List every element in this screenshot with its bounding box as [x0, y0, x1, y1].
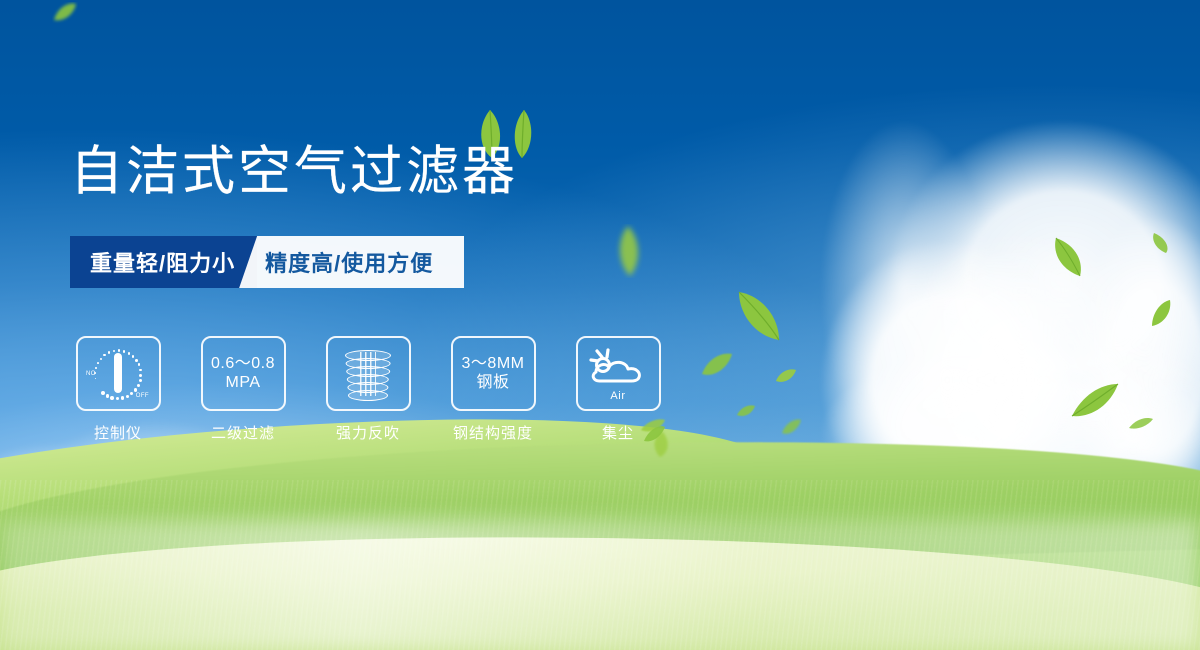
feature-label: 控制仪: [94, 422, 142, 443]
gauge-tick-dot: [103, 354, 105, 356]
pressure-value: 0.6～0.8: [211, 355, 275, 374]
gauge-tick-dot: [118, 349, 120, 351]
cloud-air-icon: Air: [588, 348, 648, 400]
steel-thickness: 3～8MM: [462, 355, 525, 374]
leaf-icon: [1050, 236, 1086, 278]
leaf-icon: [52, 2, 78, 24]
gauge-tick-dot: [139, 379, 142, 382]
gauge-tick-dot: [128, 352, 131, 355]
steel-plate-text-icon: 3～8MM 钢板: [462, 355, 525, 393]
feature-item-dust-collection[interactable]: Air 集尘: [570, 336, 666, 443]
gauge-tick-dot: [126, 395, 130, 399]
gauge-tick-dot: [139, 374, 142, 377]
feature-icon-box: 0.6～0.8 MPA: [201, 336, 286, 411]
gauge-tick-dot: [135, 359, 138, 362]
subtitle-right-tag: 精度高/使用方便: [239, 236, 464, 288]
subtitle-bar: 重量轻/阻力小 精度高/使用方便: [70, 236, 464, 288]
leaf-icon: [1150, 232, 1170, 254]
gauge-tick-dot: [108, 351, 110, 353]
gauge-tick-dot: [95, 367, 97, 369]
feature-label: 强力反吹: [336, 422, 400, 443]
feature-item-steel-strength[interactable]: 3～8MM 钢板 钢结构强度: [445, 336, 541, 443]
grass-field: [0, 490, 1200, 650]
feature-icon-box: NO OFF: [76, 336, 161, 411]
air-label: Air: [588, 390, 648, 402]
pressure-unit: MPA: [211, 374, 275, 393]
feature-icon-box: Air: [576, 336, 661, 411]
gauge-tick-dot: [134, 388, 137, 391]
leaf-icon: [736, 404, 756, 418]
gauge-tick-dot: [121, 396, 125, 400]
gauge-needle: [114, 353, 122, 393]
gauge-tick-dot: [139, 369, 142, 372]
gauge-off-label: OFF: [136, 393, 149, 399]
feature-item-controller[interactable]: NO OFF 控制仪: [70, 336, 166, 443]
leaf-icon: [612, 224, 646, 278]
leaf-icon: [1148, 298, 1174, 328]
leaf-icon: [1070, 378, 1120, 420]
feature-label: 集尘: [602, 422, 634, 443]
feature-icon-box: [326, 336, 411, 411]
gauge-tick-dot: [130, 392, 133, 395]
feature-icon-box: 3～8MM 钢板: [451, 336, 536, 411]
gauge-tick-dot: [106, 394, 110, 398]
gauge-tick-dot: [137, 384, 140, 387]
cloud-sun-glyph: [588, 348, 648, 388]
gauge-tick-dot: [113, 350, 115, 352]
pressure-text-icon: 0.6～0.8 MPA: [211, 355, 275, 393]
blowback-ring: [348, 390, 388, 401]
feature-list: NO OFF 控制仪 0.6～0.8 MPA 二级过滤 强: [70, 336, 666, 443]
gauge-tick-dot: [116, 397, 120, 401]
leaf-icon: [700, 352, 734, 378]
leaf-icon: [1128, 416, 1154, 430]
gauge-tick-dot: [95, 378, 97, 380]
blowback-icon: [344, 348, 392, 400]
page-title: 自洁式空气过滤器: [70, 145, 518, 198]
leaf-icon: [775, 368, 797, 384]
feature-item-blowback[interactable]: 强力反吹: [320, 336, 416, 443]
gauge-icon: NO OFF: [87, 346, 149, 402]
grass-texture-overlay: [0, 480, 1200, 650]
leaf-icon: [780, 418, 802, 436]
subtitle-left-tag: 重量轻/阻力小: [70, 236, 257, 288]
leaf-icon: [735, 288, 783, 344]
gauge-tick-dot: [100, 358, 102, 360]
gauge-tick-dot: [123, 350, 125, 352]
gauge-tick-dot: [132, 355, 135, 358]
steel-material: 钢板: [462, 374, 525, 393]
product-banner: 自洁式空气过滤器 重量轻/阻力小 精度高/使用方便 NO OFF 控制仪 0.6…: [0, 0, 1200, 650]
feature-label: 钢结构强度: [453, 422, 533, 443]
feature-item-secondary-filter[interactable]: 0.6～0.8 MPA 二级过滤: [195, 336, 291, 443]
gauge-tick-dot: [101, 391, 105, 395]
feature-label: 二级过滤: [211, 422, 275, 443]
gauge-tick-dot: [97, 362, 99, 364]
gauge-tick-dot: [138, 363, 141, 366]
gauge-tick-dot: [110, 396, 114, 400]
